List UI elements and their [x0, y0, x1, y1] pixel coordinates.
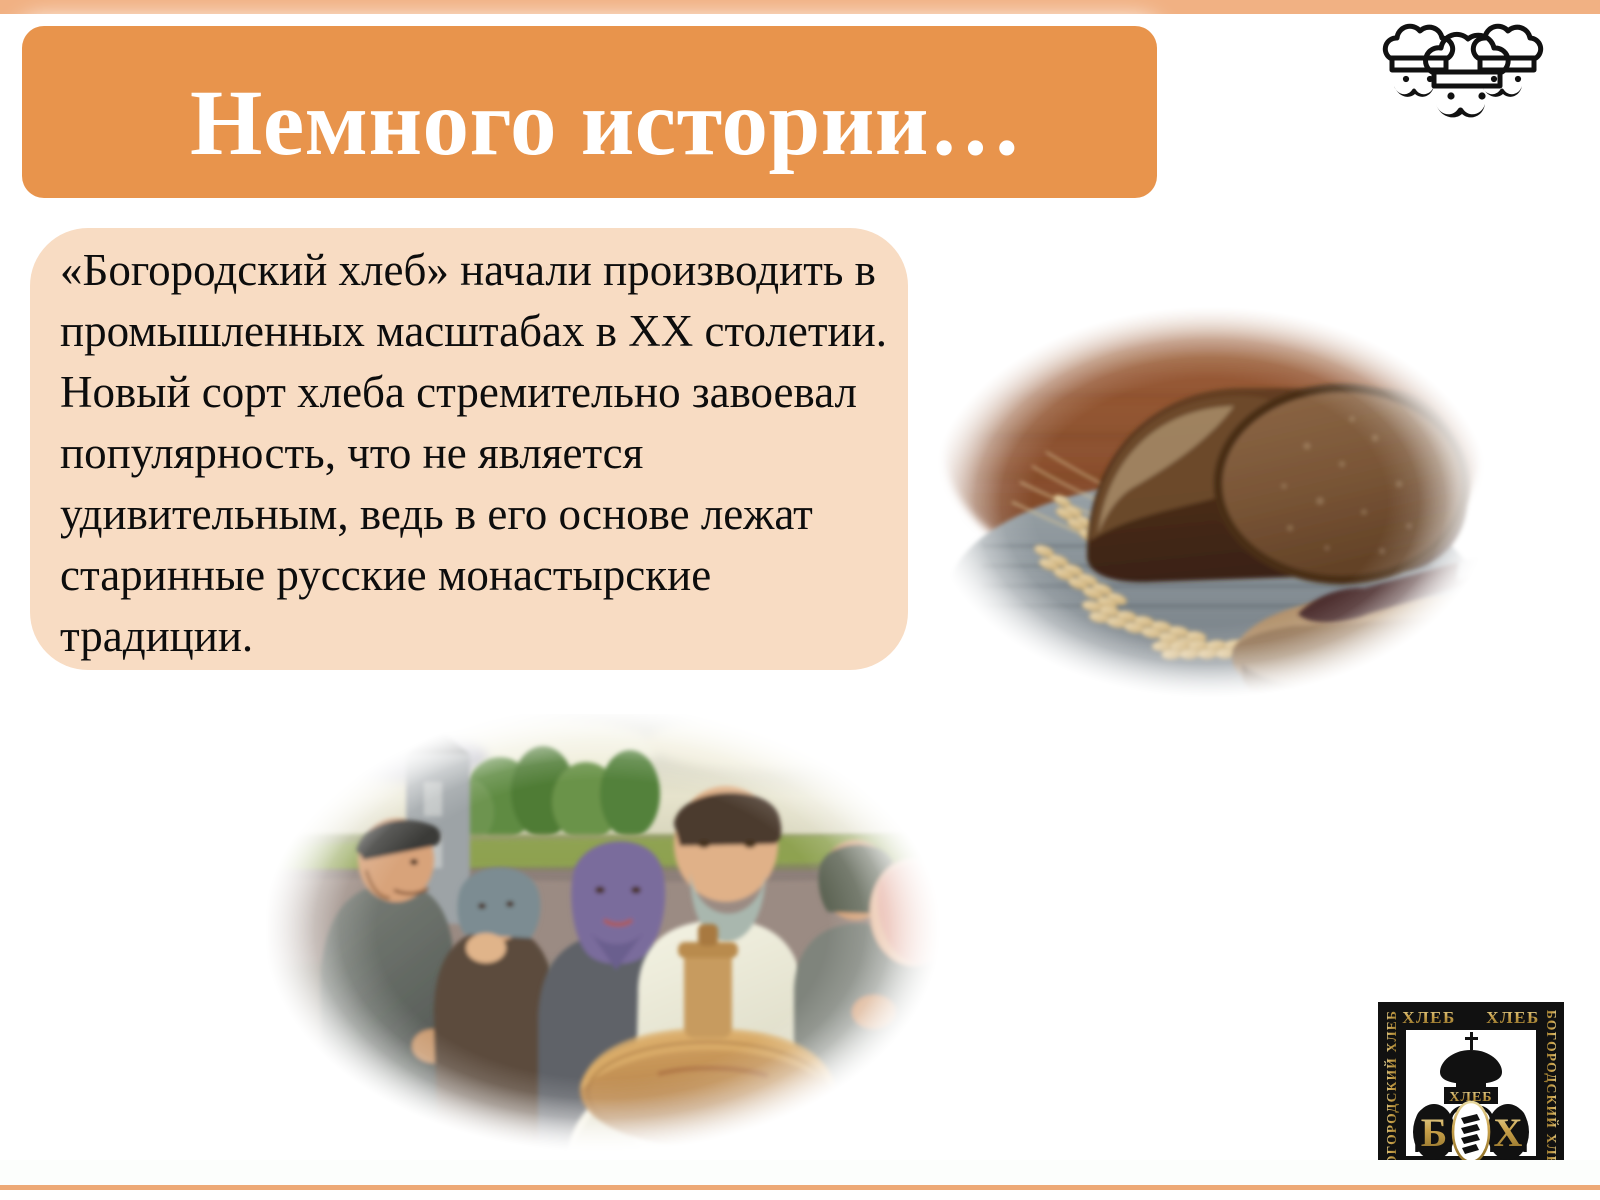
bottom-accent-rule: [0, 1185, 1600, 1190]
slide-root: Немного истории…: [0, 0, 1600, 1200]
body-text-card: «Богородский хлеб» начали производить в …: [30, 228, 908, 670]
bottom-tint: [0, 1160, 1600, 1185]
logo-monogram-right: Х: [1494, 1110, 1523, 1155]
rye-bread-photo: [912, 296, 1508, 708]
title-banner: Немного истории…: [22, 26, 1157, 198]
logo-frame-left-text: БОГОРОДСКИЙ ХЛЕБ: [1384, 1010, 1399, 1176]
top-accent-strip: [0, 0, 1600, 14]
bread-and-salt-painting: [238, 694, 966, 1164]
logo-frame-top-right-text: ХЛЕБ: [1486, 1008, 1540, 1027]
body-paragraph: «Богородский хлеб» начали производить в …: [60, 240, 890, 667]
logo-frame-top-left-text: ХЛЕБ: [1402, 1008, 1456, 1027]
page-title: Немного истории…: [190, 70, 1170, 178]
three-chef-hats-icon: [1372, 22, 1552, 122]
bread-and-salt-painting-mask: [238, 694, 966, 1164]
bread-loaf-icon: [1453, 1102, 1489, 1162]
logo-monogram-left: Б: [1421, 1110, 1447, 1155]
logo-frame-right-text: БОГОРОДСКИЙ ХЛЕБ: [1544, 1010, 1559, 1176]
rye-bread-photo-mask: [912, 296, 1508, 708]
